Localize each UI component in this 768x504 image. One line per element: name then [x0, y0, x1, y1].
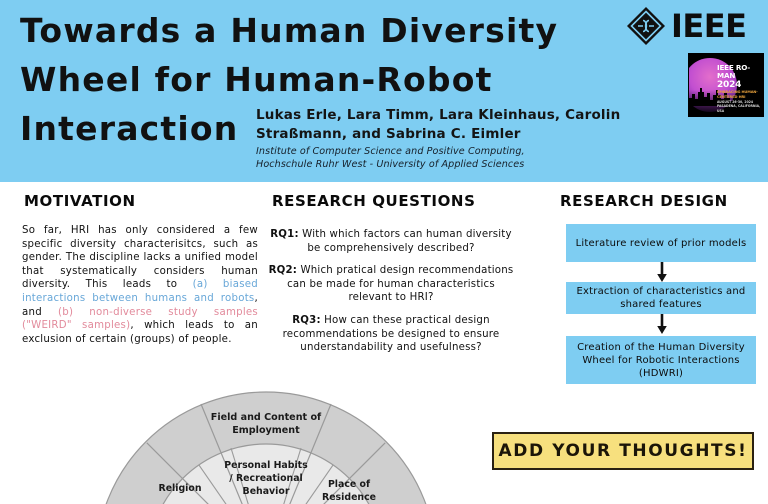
add-your-thoughts-button[interactable]: ADD YOUR THOUGHTS!	[492, 432, 754, 470]
research-question-2: RQ2: Which pratical design recommendatio…	[266, 264, 516, 305]
rq2-tag: RQ2:	[269, 265, 297, 276]
poster-canvas: Towards a Human Diversity Wheel for Huma…	[0, 0, 768, 504]
poster-header: Towards a Human Diversity Wheel for Huma…	[0, 0, 768, 182]
banner-line-2: 2024	[717, 80, 761, 90]
wheel-outer-label-1-line-2: Employment	[232, 425, 300, 436]
wheel-inner-label-residence-line-2: Residence	[322, 492, 376, 503]
section-heading-research-design: RESEARCH DESIGN	[560, 192, 728, 210]
wheel-outer-label-1-line-1: Field and Content of	[211, 412, 322, 423]
rq1-text: With which factors can human diversity b…	[299, 229, 512, 254]
section-heading-motivation: MOTIVATION	[24, 192, 136, 210]
banner-text: IEEE RO-MAN 2024 EMBRACING HUMAN-CENTERE…	[717, 64, 761, 113]
section-heading-research-questions: RESEARCH QUESTIONS	[272, 192, 476, 210]
roman-2024-banner: IEEE RO-MAN 2024 EMBRACING HUMAN-CENTERE…	[688, 53, 764, 117]
wheel-inner-label-habits-line-3: Behavior	[243, 486, 290, 497]
wheel-inner-label-habits-line-1: Personal Habits	[224, 460, 308, 471]
flow-step-1: Literature review of prior models	[566, 224, 756, 262]
author-names: Lukas Erle, Lara Timm, Lara Kleinhaus, C…	[256, 106, 622, 144]
ieee-diamond-icon	[626, 6, 666, 46]
ieee-wordmark: IEEE	[671, 10, 746, 42]
cta-label: ADD YOUR THOUGHTS!	[499, 441, 748, 461]
wheel-inner-label-residence-line-1: Place of	[328, 479, 371, 490]
banner-line-5: PASADENA, CALIFORNIA, USA	[717, 104, 761, 113]
ieee-logo: IEEE	[626, 4, 764, 48]
rq2-text: Which pratical design recommendations ca…	[287, 265, 513, 303]
affiliation-line-2: Hochschule Ruhr West - University of App…	[256, 159, 622, 172]
flow-arrow-2-icon	[655, 314, 669, 334]
wheel-inner-label-religion: Religion	[158, 483, 201, 494]
human-diversity-wheel-diagram: Field and Content of Employment Religion…	[98, 386, 434, 504]
affiliation-line-1: Institute of Computer Science and Positi…	[256, 146, 622, 159]
research-question-3: RQ3: How can these practical design reco…	[266, 314, 516, 355]
research-question-1: RQ1: With which factors can human divers…	[266, 228, 516, 255]
title-line-1: Towards a Human Diversity	[14, 6, 614, 55]
rq3-tag: RQ3:	[292, 315, 320, 326]
flow-step-2: Extraction of characteristics and shared…	[566, 282, 756, 314]
banner-line-3: EMBRACING HUMAN-CENTERED HRI	[717, 90, 761, 100]
wheel-inner-label-habits-line-2: / Recreational	[229, 473, 302, 484]
affiliation: Institute of Computer Science and Positi…	[256, 146, 622, 171]
rq1-tag: RQ1:	[270, 229, 298, 240]
author-block: Lukas Erle, Lara Timm, Lara Kleinhaus, C…	[256, 106, 622, 171]
flow-step-3: Creation of the Human Diversity Wheel fo…	[566, 336, 756, 384]
motivation-text: So far, HRI has only considered a few sp…	[22, 224, 258, 346]
title-line-2: Wheel for Human-Robot	[14, 55, 614, 104]
flow-arrow-1-icon	[655, 262, 669, 282]
banner-line-1: IEEE RO-MAN	[717, 64, 761, 80]
